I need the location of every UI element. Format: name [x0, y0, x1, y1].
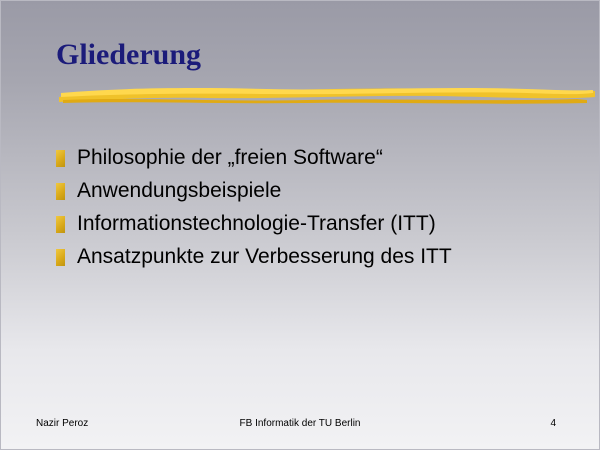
- bullet-text: Anwendungsbeispiele: [77, 178, 281, 204]
- square-bullet-icon: [56, 183, 65, 200]
- bullet-text: Philosophie der „freien Software“: [77, 145, 383, 171]
- square-bullet-icon: [56, 249, 65, 266]
- presentation-slide: Gliederung Philosophie der „freien Softw…: [0, 0, 600, 450]
- slide-footer: Nazir Peroz FB Informatik der TU Berlin …: [0, 418, 600, 432]
- bullet-text: Ansatzpunkte zur Verbesserung des ITT: [77, 244, 452, 270]
- list-item: Informationstechnologie-Transfer (ITT): [56, 211, 586, 237]
- list-item: Philosophie der „freien Software“: [56, 145, 586, 171]
- square-bullet-icon: [56, 216, 65, 233]
- bullet-list: Philosophie der „freien Software“ Anwend…: [56, 145, 586, 277]
- square-bullet-icon: [56, 150, 65, 167]
- slide-title: Gliederung: [56, 38, 201, 72]
- brush-stroke-divider: [57, 84, 597, 106]
- footer-page-number: 4: [550, 418, 556, 429]
- list-item: Ansatzpunkte zur Verbesserung des ITT: [56, 244, 586, 270]
- list-item: Anwendungsbeispiele: [56, 178, 586, 204]
- footer-affiliation: FB Informatik der TU Berlin: [0, 418, 600, 429]
- bullet-text: Informationstechnologie-Transfer (ITT): [77, 211, 436, 237]
